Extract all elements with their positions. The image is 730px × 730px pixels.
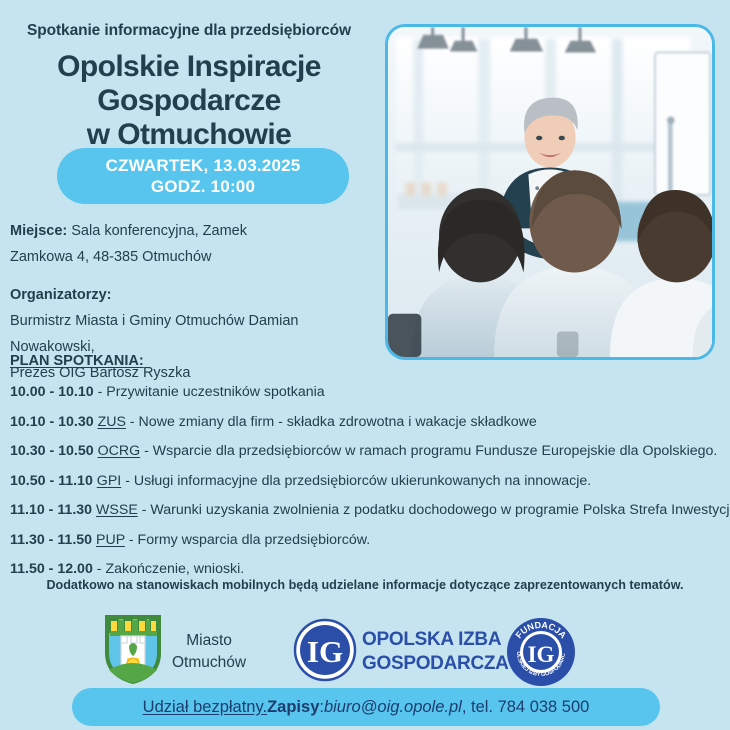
place-value: Sala konferencyjna, Zamek bbox=[67, 223, 247, 239]
agenda-item: 10.30 - 10.50 OCRG - Wsparcie dla przeds… bbox=[10, 437, 726, 467]
signup-phone: , tel. 784 038 500 bbox=[462, 698, 590, 717]
agenda-org: PUP bbox=[96, 532, 125, 548]
signup-email[interactable]: biuro@oig.opole.pl bbox=[324, 698, 462, 717]
oig-label: OPOLSKA IZBA GOSPODARCZA bbox=[362, 628, 509, 676]
agenda-list: 10.00 - 10.10 - Przywitanie uczestników … bbox=[10, 378, 726, 585]
agenda-org: OCRG bbox=[98, 443, 141, 459]
agenda-time: 10.50 - 11.10 bbox=[10, 473, 93, 489]
place-row-2: Zamkowa 4, 48-385 Otmuchów bbox=[10, 244, 380, 270]
agenda-time: 10.10 - 10.30 bbox=[10, 414, 94, 430]
agenda-item: 10.50 - 11.10 GPI - Usługi informacyjne … bbox=[10, 467, 726, 497]
details-spacer bbox=[10, 270, 380, 282]
agenda-text: - Nowe zmiany dla firm - składka zdrowot… bbox=[126, 414, 537, 430]
agenda-org: GPI bbox=[97, 473, 121, 489]
agenda-item: 10.00 - 10.10 - Przywitanie uczestników … bbox=[10, 378, 726, 408]
agenda-item: 11.10 - 11.30 WSSE - Warunki uzyskania z… bbox=[10, 496, 726, 526]
agenda-text: - Przywitanie uczestników spotkania bbox=[94, 384, 325, 400]
signup-label: Zapisy bbox=[267, 698, 319, 717]
page-title: Opolskie Inspiracje Gospodarcze w Otmuch… bbox=[0, 50, 378, 152]
organizers-label-row: Organizatorzy: bbox=[10, 282, 380, 308]
title-line-1: Opolskie Inspiracje bbox=[0, 50, 378, 84]
agenda-org: WSSE bbox=[96, 502, 138, 518]
agenda-text: - Wsparcie dla przedsiębiorców w ramach … bbox=[140, 443, 717, 459]
additional-note: Dodatkowo na stanowiskach mobilnych będą… bbox=[0, 578, 730, 592]
agenda-org: ZUS bbox=[98, 414, 126, 430]
agenda-text: - Warunki uzyskania zwolnienia z podatku… bbox=[138, 502, 730, 518]
otmuchow-coat-of-arms-icon bbox=[104, 614, 162, 684]
date-time-badge: CZWARTEK, 13.03.2025 GODZ. 10:00 bbox=[57, 148, 349, 204]
otmuchow-label-line-2: Otmuchów bbox=[172, 652, 246, 674]
agenda-text: - Zakończenie, wnioski. bbox=[93, 561, 244, 577]
plan-heading: PLAN SPOTKANIA: bbox=[10, 353, 144, 369]
logo-strip: Miasto Otmuchów IG OPOLSKA IZBA GOSPODAR… bbox=[0, 608, 730, 690]
otmuchow-label: Miasto Otmuchów bbox=[172, 630, 246, 674]
agenda-time: 11.50 - 12.00 bbox=[10, 561, 93, 577]
agenda-item: 10.10 - 10.30 ZUS - Nowe zmiany dla firm… bbox=[10, 408, 726, 438]
place-label: Miejsce: bbox=[10, 223, 67, 239]
title-line-3: w Otmuchowie bbox=[0, 118, 378, 152]
agenda-time: 10.00 - 10.10 bbox=[10, 384, 94, 400]
event-kicker: Spotkanie informacyjne dla przedsiębiorc… bbox=[0, 22, 378, 40]
svg-text:IG: IG bbox=[307, 634, 343, 669]
poster-root: Spotkanie informacyjne dla przedsiębiorc… bbox=[0, 0, 730, 730]
agenda-text: - Usługi informacyjne dla przedsiębiorcó… bbox=[121, 473, 591, 489]
event-photo bbox=[385, 24, 715, 360]
date-badge-line-1: CZWARTEK, 13.03.2025 bbox=[106, 155, 301, 176]
date-badge-line-2: GODZ. 10:00 bbox=[151, 176, 255, 197]
oig-logo-icon: IG bbox=[292, 618, 358, 682]
agenda-time: 10.30 - 10.50 bbox=[10, 443, 94, 459]
agenda-item: 11.30 - 11.50 PUP - Formy wsparcia dla p… bbox=[10, 526, 726, 556]
signup-footer: Udział bezpłatny. Zapisy: biuro@oig.opol… bbox=[72, 688, 660, 726]
oig-label-line-2: GOSPODARCZA bbox=[362, 652, 509, 676]
agenda-time: 11.10 - 11.30 bbox=[10, 502, 92, 518]
fundacja-oig-logo-icon: FUNDACJA OPOLSKIEJ IZBY GOSPODARCZEJ IG bbox=[505, 616, 577, 688]
agenda-time: 11.30 - 11.50 bbox=[10, 532, 92, 548]
agenda-text: - Formy wsparcia dla przedsiębiorców. bbox=[125, 532, 370, 548]
free-participation-text: Udział bezpłatny. bbox=[143, 698, 267, 717]
title-line-2: Gospodarcze bbox=[0, 84, 378, 118]
otmuchow-label-line-1: Miasto bbox=[172, 630, 246, 652]
svg-text:IG: IG bbox=[528, 642, 555, 667]
place-row: Miejsce: Sala konferencyjna, Zamek bbox=[10, 218, 380, 244]
oig-label-line-1: OPOLSKA IZBA bbox=[362, 628, 509, 652]
event-photo-illustration bbox=[388, 27, 712, 357]
organizers-label: Organizatorzy: bbox=[10, 287, 112, 303]
